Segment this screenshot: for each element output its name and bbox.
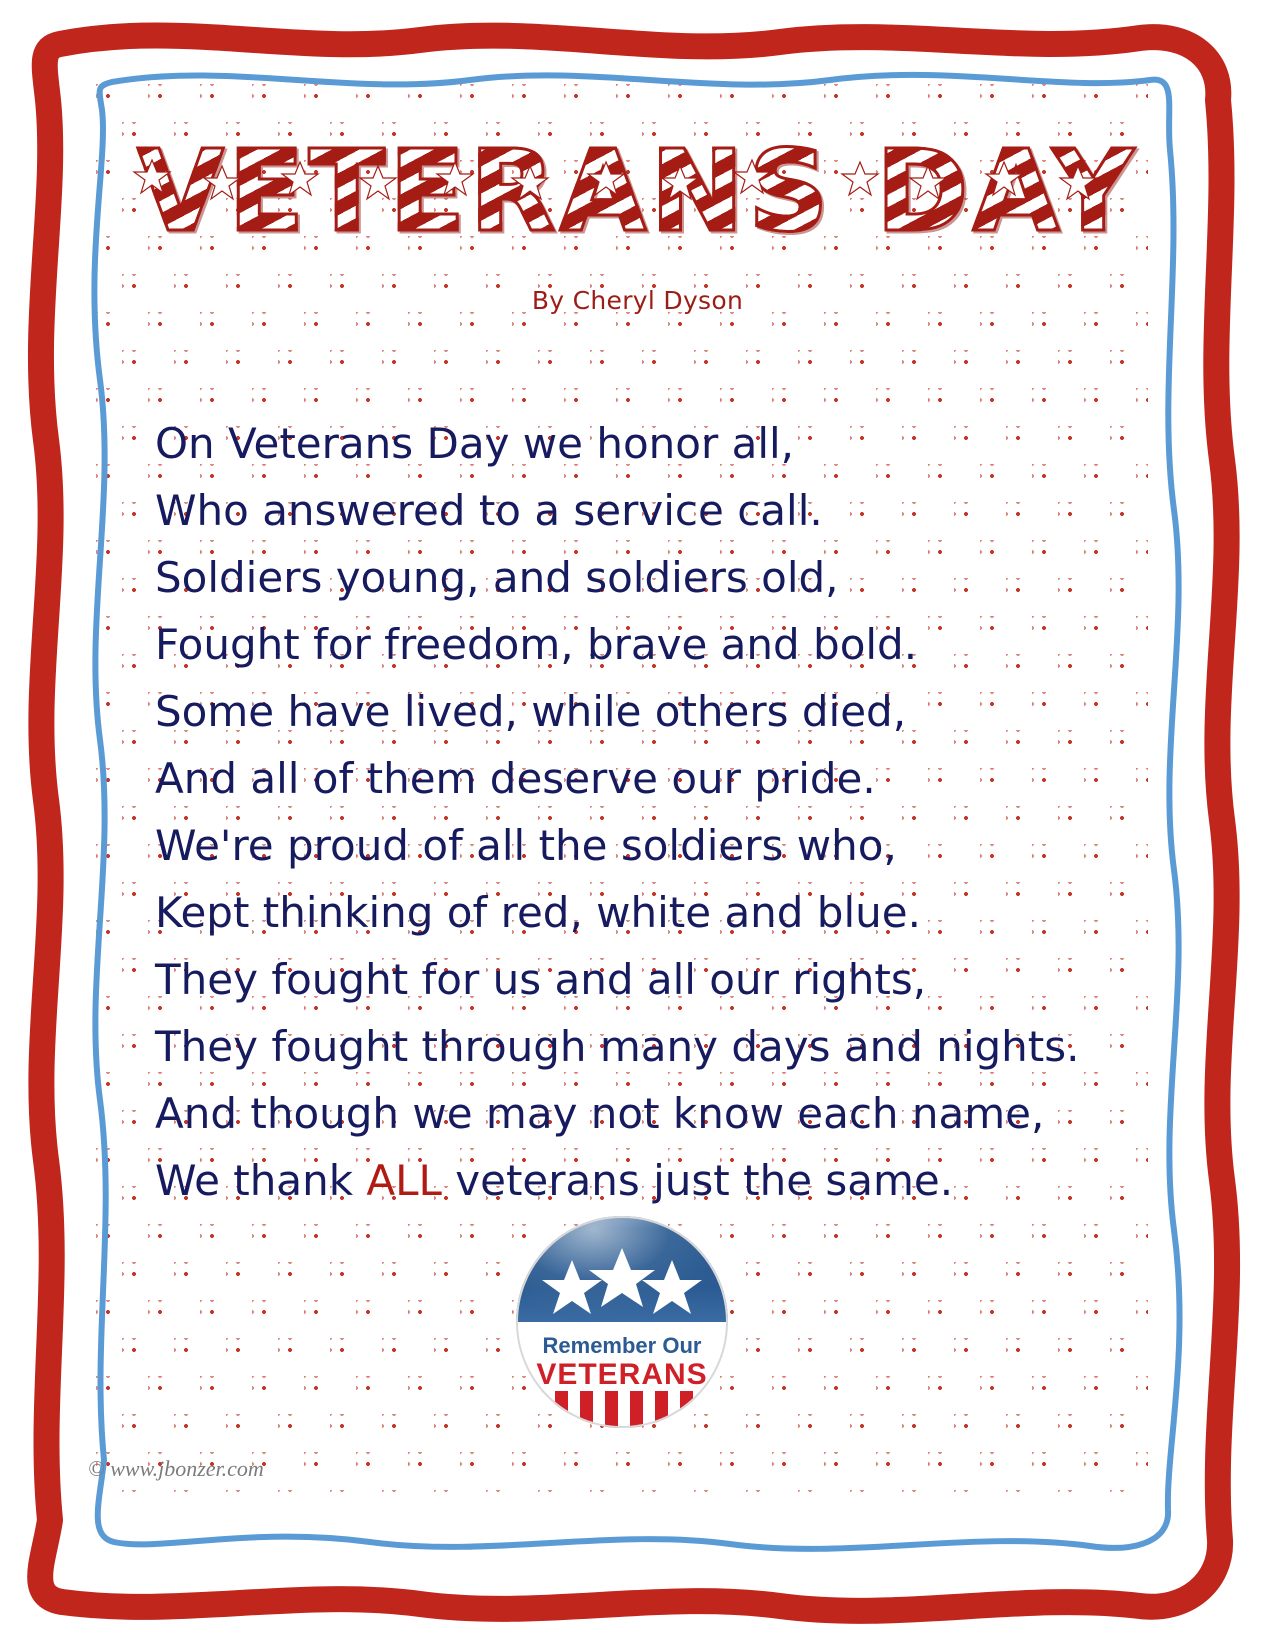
poem-final-before: We thank bbox=[155, 1156, 366, 1205]
poem-line: Kept thinking of red, white and blue. bbox=[155, 879, 1145, 946]
poem-body: On Veterans Day we honor all, Who answer… bbox=[155, 410, 1145, 1214]
poem-line: Fought for freedom, brave and bold. bbox=[155, 611, 1145, 678]
badge-line2: VETERANS bbox=[536, 1358, 707, 1391]
title-container: VETERANS DAY bbox=[0, 132, 1275, 252]
poem-line: And all of them deserve our pride. bbox=[155, 745, 1145, 812]
poem-line: They fought for us and all our rights, bbox=[155, 946, 1145, 1013]
poem-line: On Veterans Day we honor all, bbox=[155, 410, 1145, 477]
remember-our-veterans-badge: Remember Our VETERANS bbox=[514, 1214, 730, 1430]
copyright-text: © www.jbonzer.com bbox=[88, 1456, 264, 1482]
poem-line: We're proud of all the soldiers who, bbox=[155, 812, 1145, 879]
badge-stripes bbox=[514, 1391, 730, 1430]
page-title: VETERANS DAY bbox=[137, 132, 1137, 252]
poem-line: Some have lived, while others died, bbox=[155, 678, 1145, 745]
poem-line: Who answered to a service call. bbox=[155, 477, 1145, 544]
poem-final-after: veterans just the same. bbox=[442, 1156, 953, 1205]
poem-line: And though we may not know each name, bbox=[155, 1080, 1145, 1147]
poem-line: They fought through many days and nights… bbox=[155, 1013, 1145, 1080]
poem-line-final: We thank ALL veterans just the same. bbox=[155, 1147, 1145, 1214]
poster-canvas: VETERANS DAY bbox=[0, 0, 1275, 1651]
poem-line: Soldiers young, and soldiers old, bbox=[155, 544, 1145, 611]
poem-emphasis-all: ALL bbox=[366, 1156, 442, 1205]
byline: By Cheryl Dyson bbox=[0, 286, 1275, 315]
